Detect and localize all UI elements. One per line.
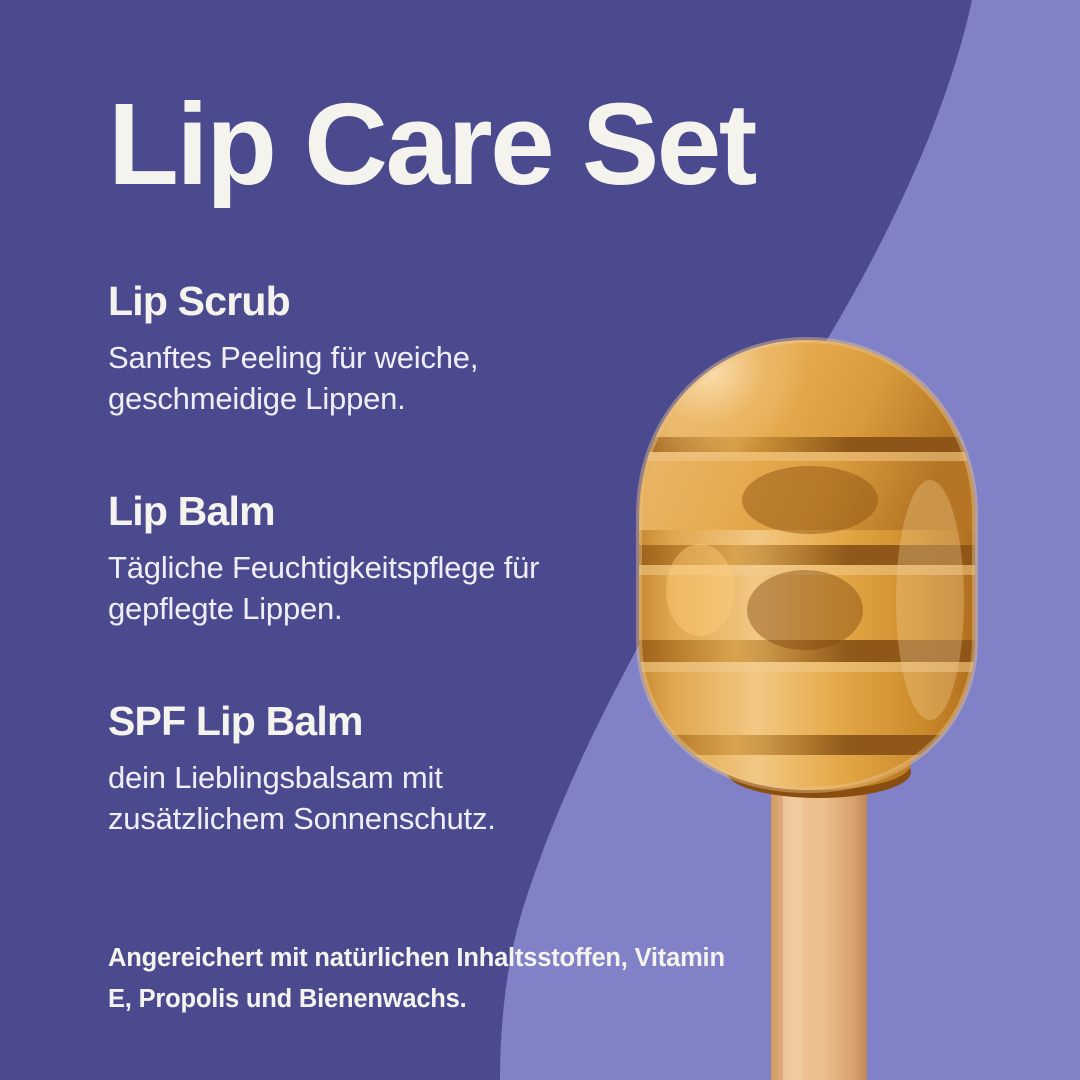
section-description-spf-lip-balm: dein Lieblingsbalsam mit zusätzlichem So… (108, 757, 578, 839)
product-section-lip-balm: Lip Balm Tägliche Feuchtigkeitspflege fü… (108, 490, 668, 629)
ingredients-footnote: Angereichert mit natürlichen Inhaltsstof… (108, 938, 748, 1021)
section-title-lip-scrub: Lip Scrub (108, 280, 668, 323)
section-description-lip-scrub: Sanftes Peeling für weiche, geschmeidige… (108, 337, 578, 419)
page-title: Lip Care Set (108, 86, 755, 202)
poster-canvas: Lip Care Set Lip Scrub Sanftes Peeling f… (0, 0, 1080, 1080)
section-description-lip-balm: Tägliche Feuchtigkeitspflege für gepfleg… (108, 547, 578, 629)
section-title-lip-balm: Lip Balm (108, 490, 668, 533)
product-section-spf-lip-balm: SPF Lip Balm dein Lieblingsbalsam mit zu… (108, 700, 668, 839)
product-section-lip-scrub: Lip Scrub Sanftes Peeling für weiche, ge… (108, 280, 668, 419)
section-title-spf-lip-balm: SPF Lip Balm (108, 700, 668, 743)
text-content-column: Lip Care Set Lip Scrub Sanftes Peeling f… (108, 0, 768, 1080)
